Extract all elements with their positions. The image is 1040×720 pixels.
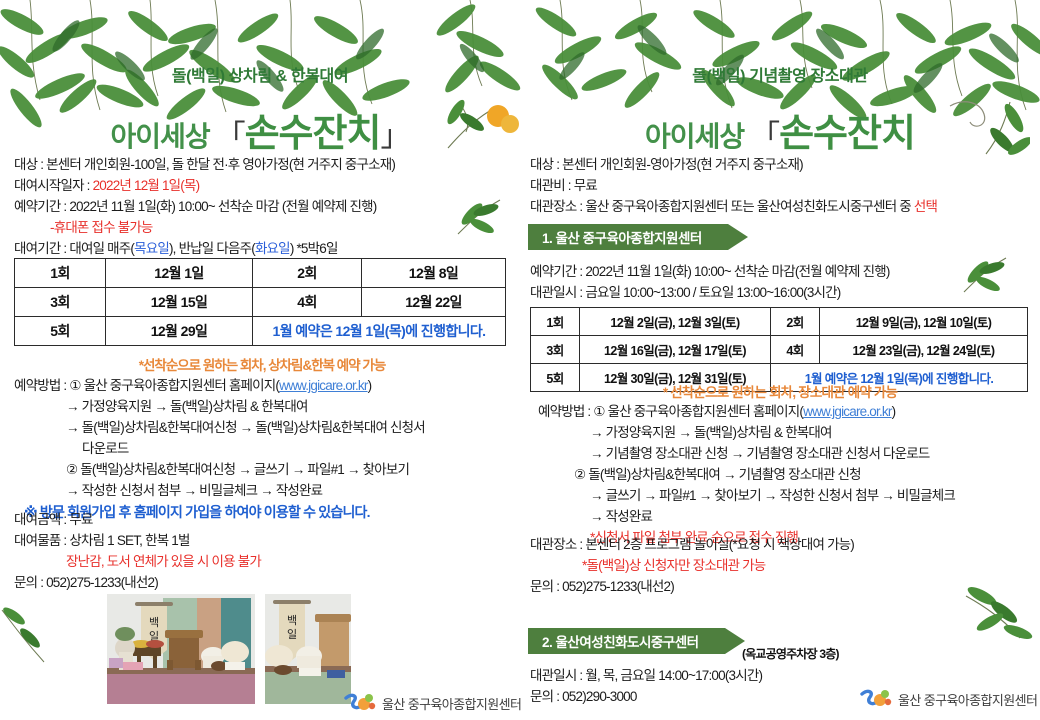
section-2-time-value: 월, 목, 금요일 14:00~17:00(3시간) (585, 668, 762, 683)
left-fee-line: 대여금액 : 무료 (14, 510, 510, 531)
left-rental-day2: 화요일 (255, 241, 290, 256)
left-items-label: 대여물품 : (14, 533, 69, 548)
section-1-method-step1a: → 가정양육지원 → 돌(백일)상차림 & 한복대여 (538, 423, 1030, 444)
right-place-label: 대관장소 : (530, 199, 585, 214)
section-2-header: 2. 울산여성친화도시중구센터 (528, 628, 725, 654)
photo-table-setting-wide: 백 일 (107, 594, 255, 704)
right-fee-line: 대관비 : 무료 (530, 176, 1030, 197)
right-cell-r1c1: 1회 (531, 308, 580, 336)
section-2-time-label: 대관일시 : (530, 668, 585, 683)
section-1-method-step2: ② 돌(백일)상차림&한복대여 → 기념촬영 장소대관 신청 (538, 465, 1030, 486)
right-cell-r2c2: 12월 16일(금), 12월 17일(토) (580, 336, 771, 364)
section-1-method-step1b: → 기념촬영 장소대관 신청 → 기념촬영 장소대관 신청서 다운로드 (538, 444, 1030, 465)
section-1-place-block: 대관장소 : 본센터 2층 프로그램 놀이실(*요청 시 책상대여 가능) *돌… (530, 535, 1030, 598)
right-cell-r2c3: 4회 (771, 336, 820, 364)
left-method-step1b: → 돌(백일)상차림&한복대여신청 → 돌(백일)상차림&한복대여 신청서 (14, 418, 510, 439)
section-1-period-line: 예약기간 : 2022년 11월 1일(화) 10:00~ 선착순 마감(전월 … (530, 262, 1030, 283)
right-main-title: 아이세상「손수잔치 (520, 102, 1040, 157)
section-1-contact-line: 문의 : 052)275-1233(내선2) (530, 577, 1030, 598)
left-method-step2: ② 돌(백일)상차림&한복대여신청 → 글쓰기 → 파일#1 → 찾아보기 (14, 460, 510, 481)
left-contact-label: 문의 : (14, 575, 46, 590)
table-row: 1회 12월 1일 2회 12월 8일 (15, 259, 506, 288)
left-panel: 돌(백일) 상차림 & 한복대여 아이세상「손수잔치」 대상 : 본센터 개인회… (0, 0, 520, 720)
left-brand-label: 아이세상 (111, 121, 210, 152)
right-fee-value: 무료 (574, 178, 597, 193)
left-cell-r1c3: 2회 (253, 259, 362, 288)
section-1-place-value: 본센터 2층 프로그램 놀이실(*요청 시 책상대여 가능) (585, 537, 854, 552)
left-items-note: 장난감, 도서 연체가 있을 시 이용 불가 (14, 552, 510, 573)
left-rental-label: 대여기간 : (14, 241, 69, 256)
section-1-contact-value: 052)275-1233(내선2) (562, 579, 674, 594)
left-method-step1c: 다운로드 (14, 439, 510, 460)
left-table-note: *선착순으로 원하는 회차, 상차림&한복 예약 가능 (14, 356, 510, 377)
left-start-label: 대여시작일자 : (14, 178, 93, 193)
left-cell-r1c2: 12월 1일 (106, 259, 253, 288)
section-1-schedule-table: 1회 12월 2일(금), 12월 3일(토) 2회 12월 9일(금), 12… (530, 307, 1028, 392)
section-1-time-label: 대관일시 : (530, 285, 585, 300)
right-title-label: 손수잔치 (779, 113, 915, 155)
right-place-highlight: 선택 (914, 199, 937, 214)
left-info-block: 대상 : 본센터 개인회원-100일, 돌 한달 전·후 영아가정(현 거주지 … (14, 155, 510, 260)
center-logo-icon (342, 692, 376, 714)
svg-text:백: 백 (287, 614, 297, 627)
section-2-header-suffix: (옥교공영주차장 3층) (742, 645, 839, 662)
section-1-method-step1-text: ① 울산 중구육아종합지원센터 홈페이지( (593, 404, 803, 419)
left-subtitle: 돌(백일) 상차림 & 한복대여 (0, 62, 520, 86)
left-rental-mid: ), 반납일 다음주( (169, 241, 255, 256)
section-1-contact-label: 문의 : (530, 579, 562, 594)
table-row: 3회 12월 15일 4회 12월 22일 (15, 288, 506, 317)
left-cell-r3c1: 5회 (15, 317, 106, 346)
section-1-method-step2b: → 작성완료 (538, 507, 1030, 528)
left-cell-r1c4: 12월 8일 (362, 259, 506, 288)
section-1-method-step1-close: ) (892, 404, 896, 419)
footer-logo-right: 울산 중구육아종합지원센터 (858, 688, 1037, 710)
left-method-label: 예약방법 : (14, 378, 69, 393)
right-cell-r2c1: 3회 (531, 336, 580, 364)
left-cell-r2c3: 4회 (253, 288, 362, 317)
homepage-link[interactable]: www.jgicare.or.kr (279, 378, 367, 393)
section-1-place-line: 대관장소 : 본센터 2층 프로그램 놀이실(*요청 시 책상대여 가능) (530, 535, 1030, 556)
left-rental-suffix: ) *5박6일 (290, 241, 338, 256)
svg-text:백: 백 (149, 616, 159, 629)
table-row: 5회 12월 29일 1월 예약은 12월 1일(목)에 진행합니다. (15, 317, 506, 346)
left-method-block: 예약방법 : ① 울산 중구육아종합지원센터 홈페이지(www.jgicare.… (14, 376, 510, 523)
left-target-line: 대상 : 본센터 개인회원-100일, 돌 한달 전·후 영아가정(현 거주지 … (14, 155, 510, 176)
section-1-info: 예약기간 : 2022년 11월 1일(화) 10:00~ 선착순 마감(전월 … (530, 262, 1030, 304)
section-1-time-line: 대관일시 : 금요일 10:00~13:00 / 토요일 13:00~16:00… (530, 283, 1030, 304)
poster-canvas: 돌(백일) 상차림 & 한복대여 아이세상「손수잔치」 대상 : 본센터 개인회… (0, 0, 1040, 720)
left-method-step1-text: ① 울산 중구육아종합지원센터 홈페이지( (69, 378, 279, 393)
left-target-label: 대상 : (14, 157, 46, 172)
center-logo-icon-right (858, 688, 892, 710)
section-1-table-note-block: * 선착순으로 원하는 회차, 장소대관 예약 가능 (530, 383, 1030, 404)
footer-logo-left-text: 울산 중구육아종합지원센터 (382, 694, 521, 713)
section-1-method-label: 예약방법 : (538, 404, 593, 419)
right-target-value: 본센터 개인회원-영아가정(현 거주지 중구소재) (562, 157, 803, 172)
left-bracket-close: 」 (380, 120, 409, 153)
right-fee-label: 대관비 : (530, 178, 574, 193)
left-start-line: 대여시작일자 : 2022년 12월 1일(목) (14, 176, 510, 197)
left-items-line: 대여물품 : 상차림 1 SET, 한복 1벌 (14, 531, 510, 552)
photo-table-setting-close: 백 일 (265, 594, 351, 704)
left-period-value: 2022년 11월 1일(화) 10:00~ 선착순 마감 (전월 예약제 진행… (69, 199, 376, 214)
right-place-value: 울산 중구육아종합지원센터 또는 울산여성친화도시중구센터 중 (585, 199, 914, 214)
table-row: 3회 12월 16일(금), 12월 17일(토) 4회 12월 23일(금),… (531, 336, 1028, 364)
section-1-table-note: * 선착순으로 원하는 회차, 장소대관 예약 가능 (530, 383, 1030, 404)
left-schedule-table: 1회 12월 1일 2회 12월 8일 3회 12월 15일 4회 12월 22… (14, 258, 506, 346)
right-place-line: 대관장소 : 울산 중구육아종합지원센터 또는 울산여성친화도시중구센터 중 선… (530, 197, 1030, 218)
left-fee-block: 대여금액 : 무료 대여물품 : 상차림 1 SET, 한복 1벌 장난감, 도… (14, 510, 510, 594)
right-brand-label: 아이세상 (645, 121, 744, 152)
left-table-note-block: *선착순으로 원하는 회차, 상차림&한복 예약 가능 (14, 356, 510, 377)
left-rental-day1: 목요일 (134, 241, 169, 256)
section-2-contact-label: 문의 : (530, 689, 562, 704)
left-cell-r2c2: 12월 15일 (106, 288, 253, 317)
table-row: 1회 12월 2일(금), 12월 3일(토) 2회 12월 9일(금), 12… (531, 308, 1028, 336)
left-rental-prefix: 대여일 매주( (69, 241, 134, 256)
section-1-period-label: 예약기간 : (530, 264, 585, 279)
left-cell-r3-note: 1월 예약은 12월 1일(목)에 진행합니다. (253, 317, 506, 346)
svg-text:일: 일 (287, 627, 297, 641)
section-2-contact-value: 052)290-3000 (562, 689, 636, 704)
left-cell-r1c1: 1회 (15, 259, 106, 288)
right-cell-r1c3: 2회 (771, 308, 820, 336)
section-1-period-value: 2022년 11월 1일(화) 10:00~ 선착순 마감(전월 예약제 진행) (585, 264, 889, 279)
right-cell-r1c2: 12월 2일(금), 12월 3일(토) (580, 308, 771, 336)
right-cell-r2c4: 12월 23일(금), 12월 24일(토) (820, 336, 1028, 364)
left-cell-r3c2: 12월 29일 (106, 317, 253, 346)
section-1-place-label: 대관장소 : (530, 537, 585, 552)
left-period-label: 예약기간 : (14, 199, 69, 214)
left-rental-line: 대여기간 : 대여일 매주(목요일), 반납일 다음주(화요일) *5박6일 (14, 239, 510, 260)
left-main-title: 아이세상「손수잔치」 (0, 102, 520, 157)
left-target-value: 본센터 개인회원-100일, 돌 한달 전·후 영아가정(현 거주지 중구소재) (46, 157, 395, 172)
left-method-step1a: → 가정양육지원 → 돌(백일)상차림 & 한복대여 (14, 397, 510, 418)
right-bracket-open: 「 (750, 120, 779, 153)
left-fee-label: 대여금액 : (14, 512, 69, 527)
footer-logo-right-text: 울산 중구육아종합지원센터 (898, 690, 1037, 709)
left-cell-r2c4: 12월 22일 (362, 288, 506, 317)
section-1-header: 1. 울산 중구육아종합지원센터 (528, 224, 728, 250)
section-1-place-note: *돌(백일)상 신청자만 장소대관 가능 (530, 556, 1030, 577)
right-info-block: 대상 : 본센터 개인회원-영아가정(현 거주지 중구소재) 대관비 : 무료 … (530, 155, 1030, 218)
left-fee-value: 무료 (69, 512, 92, 527)
footer-logo-left: 울산 중구육아종합지원센터 (342, 692, 521, 714)
homepage-link-right[interactable]: www.jgicare.or.kr (803, 404, 891, 419)
left-method-step1-close: ) (368, 378, 372, 393)
right-cell-r1c4: 12월 9일(금), 12월 10일(토) (820, 308, 1028, 336)
left-method-step2a: → 작성한 신청서 첨부 → 비밀글체크 → 작성완료 (14, 481, 510, 502)
section-2-time-line: 대관일시 : 월, 목, 금요일 14:00~17:00(3시간) (530, 666, 1030, 687)
left-contact-value: 052)275-1233(내선2) (46, 575, 158, 590)
left-method-step1: 예약방법 : ① 울산 중구육아종합지원센터 홈페이지(www.jgicare.… (14, 376, 510, 397)
left-bracket-open: 「 (216, 120, 245, 153)
section-1-time-value: 금요일 10:00~13:00 / 토요일 13:00~16:00(3시간) (585, 285, 840, 300)
left-period-note: -휴대폰 접수 불가능 (14, 218, 510, 239)
left-start-value: 2022년 12월 1일(목) (93, 178, 200, 193)
section-1-method-step2a: → 글쓰기 → 파일#1 → 찾아보기 → 작성한 신청서 첨부 → 비밀글체크 (538, 486, 1030, 507)
left-cell-r2c1: 3회 (15, 288, 106, 317)
section-1-method-step1: 예약방법 : ① 울산 중구육아종합지원센터 홈페이지(www.jgicare.… (538, 402, 1030, 423)
left-contact-line: 문의 : 052)275-1233(내선2) (14, 573, 510, 594)
left-period-line: 예약기간 : 2022년 11월 1일(화) 10:00~ 선착순 마감 (전월… (14, 197, 510, 218)
left-title-label: 손수잔치 (245, 113, 381, 155)
section-1-method-block: 예약방법 : ① 울산 중구육아종합지원센터 홈페이지(www.jgicare.… (538, 402, 1030, 548)
right-panel: 돌(백일) 기념촬영 장소대관 아이세상「손수잔치 대상 : 본센터 개인회원-… (520, 0, 1040, 720)
left-items-value: 상차림 1 SET, 한복 1벌 (69, 533, 189, 548)
right-subtitle: 돌(백일) 기념촬영 장소대관 (520, 62, 1040, 86)
right-target-line: 대상 : 본센터 개인회원-영아가정(현 거주지 중구소재) (530, 155, 1030, 176)
right-target-label: 대상 : (530, 157, 562, 172)
